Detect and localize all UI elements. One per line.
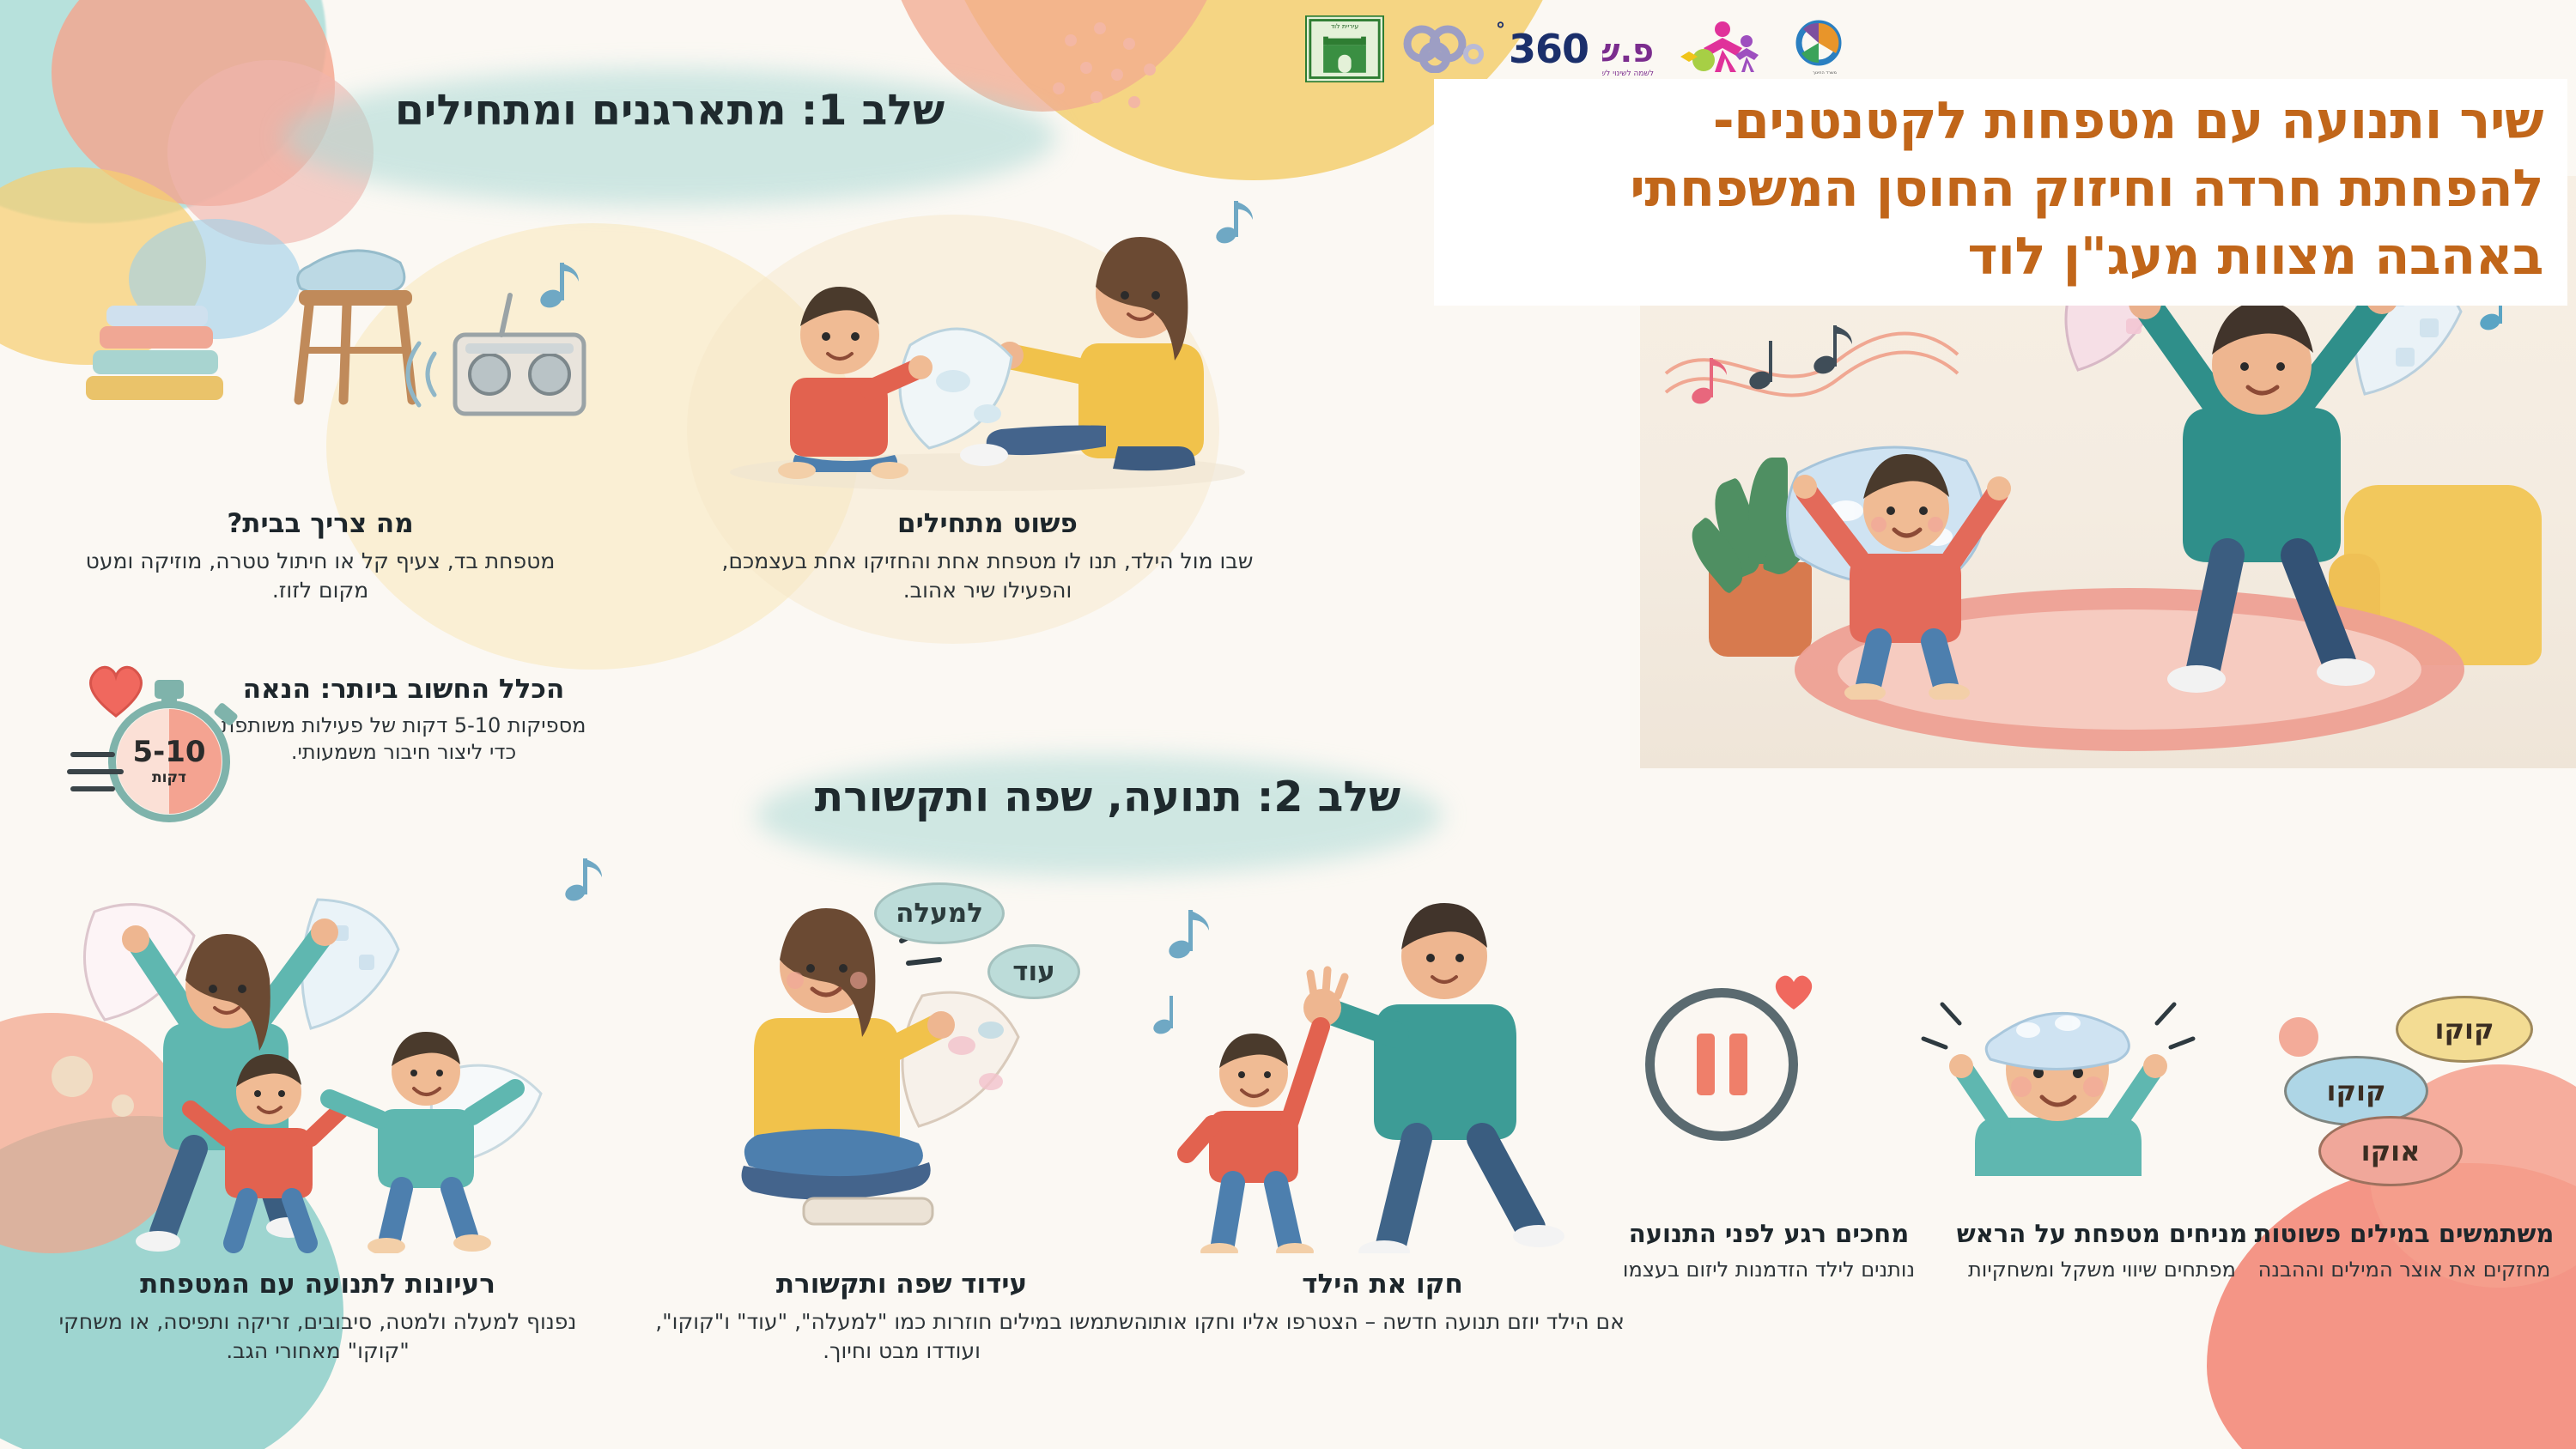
- card-just-start-title: פשוט מתחילים: [721, 508, 1254, 540]
- card-simple-words-title: משתמשים במילים פשוטות: [2250, 1219, 2559, 1249]
- card-what-to-prepare: מה צריך בבית? מטפחת בד, צעיף קל או חיתול…: [76, 508, 565, 604]
- card-what-to-prepare-title: מה צריך בבית?: [76, 508, 565, 540]
- lod-municipality-logo: עיריית לוד: [1305, 15, 1384, 82]
- poster-title-line-1: שיר ותנועה עם מטפחות לקטנטנים-: [1449, 88, 2543, 155]
- card-simple-words: משתמשים במילים פשוטות מחזקים את אוצר המי…: [2250, 1219, 2559, 1283]
- decorative-dot-2: [112, 1094, 134, 1117]
- child-with-scarf-on-head-illustration: [1915, 961, 2198, 1176]
- card-language-encouragement-title: עידוד שפה ותקשורת: [635, 1269, 1168, 1300]
- decorative-blob-teal-topleft: [0, 0, 326, 223]
- stage-1-banner: שלב 1: מתארגנים ומתחילים: [343, 86, 996, 135]
- card-most-important-rule: הכלל החשוב ביותר: הנאה מספיקות 5-10 דקות…: [219, 674, 588, 767]
- adult-dancing-figure: [2044, 236, 2490, 717]
- mother-and-two-children-dancing-illustration: [34, 858, 618, 1253]
- stage-2-banner: שלב 2: תנועה, שפה ותקשורת: [799, 773, 1417, 822]
- svg-text:לשמה לשינוי לשם חינוך: לשמה לשינוי לשם חינוך: [1602, 70, 1654, 78]
- speech-bubble-oku-pink: אוקו: [2318, 1116, 2463, 1186]
- card-wait-a-moment-title: מחכים רגע לפני התנועה: [1597, 1219, 1941, 1249]
- card-wait-a-moment: מחכים רגע לפני התנועה נותנים לילד הזדמנו…: [1597, 1219, 1941, 1283]
- mother-and-baby-illustration: [696, 197, 1279, 498]
- three-sixty-knot-icon: [1398, 25, 1492, 73]
- stopwatch-minutes: 5-10: [132, 737, 205, 767]
- card-just-start: פשוט מתחילים שבו מול הילד, תנו לו מטפחת …: [721, 508, 1254, 604]
- card-movement-ideas-body: נפנוף למעלה ולמטה, סיבובים, זריקה ותפיסה…: [52, 1307, 584, 1365]
- speech-bubble-kuku-blue: קוקו: [2284, 1056, 2428, 1126]
- speech-bubble-up: למעלה: [874, 882, 1005, 944]
- card-movement-ideas: רעיונות לתנועה עם המטפחת נפנוף למעלה ולמ…: [52, 1269, 584, 1365]
- decorative-blob-peach-bottomleft: [0, 1013, 189, 1253]
- poster-title: שיר ותנועה עם מטפחות לקטנטנים- להפחתת חר…: [1434, 79, 2567, 306]
- psr-logo: פ.ש.ר לשמה לשינוי לשם חינוך: [1602, 15, 1774, 82]
- heart-icon: [84, 659, 148, 719]
- card-imitate-child-title: חקו את הילד: [1133, 1269, 1631, 1300]
- pause-icon: [1631, 974, 1812, 1155]
- svg-text:עיריית לוד: עיריית לוד: [1331, 22, 1358, 30]
- heart-icon-small: [1771, 969, 1817, 1012]
- education-ministry-logo: משרד החינוך: [1788, 17, 1862, 81]
- decorative-blob-peach-topleft: [52, 0, 335, 206]
- svg-text:פ.ש.ר: פ.ש.ר: [1602, 32, 1654, 70]
- card-movement-ideas-title: רעיונות לתנועה עם המטפחת: [52, 1269, 584, 1300]
- card-language-encouragement-body: השתמשו במילים חוזרות כמו "למעלה", "עוד" …: [635, 1307, 1168, 1365]
- poster-title-line-3: באהבה מצוות מעג"ן לוד: [1449, 223, 2543, 291]
- decorative-blob-pink-topleft: [167, 60, 374, 245]
- decorative-blob-peach-bottomright: [2207, 1163, 2576, 1449]
- three-sixty-logo: 360 °: [1398, 16, 1589, 82]
- decorative-dot-3: [2279, 1017, 2318, 1057]
- speech-bubble-more: עוד: [987, 944, 1080, 999]
- motion-lines-icon: [67, 752, 115, 803]
- degree-symbol: °: [1496, 20, 1505, 41]
- infographic-poster: משרד החינוך פ.ש.ר לשמה לשינוי לשם חינוך …: [0, 0, 2576, 1449]
- decorative-blob-yellow-topleft: [0, 167, 206, 365]
- card-scarf-on-head-body: מפתחים שיווי משקל ומשחקיות: [1939, 1256, 2265, 1283]
- household-items-illustration: [52, 206, 601, 489]
- svg-text:משרד החינוך: משרד החינוך: [1813, 70, 1837, 76]
- card-imitate-child: חקו את הילד אם הילד יוזם תנועה חדשה – הצ…: [1133, 1269, 1631, 1337]
- decorative-dot-1: [52, 1056, 93, 1097]
- three-sixty-number: 360: [1509, 26, 1589, 72]
- card-wait-a-moment-body: נותנים לילד הזדמנות ליזום בעצמו: [1597, 1256, 1941, 1283]
- poster-title-line-2: להפחתת חרדה וחיזוק החוסן המשפחתי: [1449, 155, 2543, 223]
- card-scarf-on-head-title: מניחים מטפחת על הראש: [1939, 1219, 2265, 1249]
- card-simple-words-body: מחזקים את אוצר המילים וההבנה: [2250, 1256, 2559, 1283]
- decorative-blob-blue-topleft: [129, 219, 301, 339]
- father-and-toddler-high-five-illustration: [1142, 867, 1623, 1253]
- stopwatch-unit: דקות: [152, 769, 186, 786]
- card-just-start-body: שבו מול הילד, תנו לו מטפחת אחת והחזיקו א…: [721, 547, 1254, 604]
- partner-logo-strip: משרד החינוך פ.ש.ר לשמה לשינוי לשם חינוך …: [1305, 15, 1862, 82]
- speech-bubble-kuku-yellow: קוקו: [2396, 996, 2533, 1063]
- card-imitate-child-body: אם הילד יוזם תנועה חדשה – הצטרפו אליו וח…: [1133, 1307, 1631, 1337]
- card-scarf-on-head: מניחים מטפחת על הראש מפתחים שיווי משקל ו…: [1939, 1219, 2265, 1283]
- card-most-important-rule-body: מספיקות 5-10 דקות של פעילות משותפת כדי ל…: [219, 712, 588, 766]
- toddler-with-scarf-figure: [1786, 391, 2069, 700]
- card-language-encouragement: עידוד שפה ותקשורת השתמשו במילים חוזרות כ…: [635, 1269, 1168, 1365]
- card-most-important-rule-title: הכלל החשוב ביותר: הנאה: [219, 674, 588, 706]
- card-what-to-prepare-body: מטפחת בד, צעיף קל או חיתול טטרה, מוזיקה …: [76, 547, 565, 604]
